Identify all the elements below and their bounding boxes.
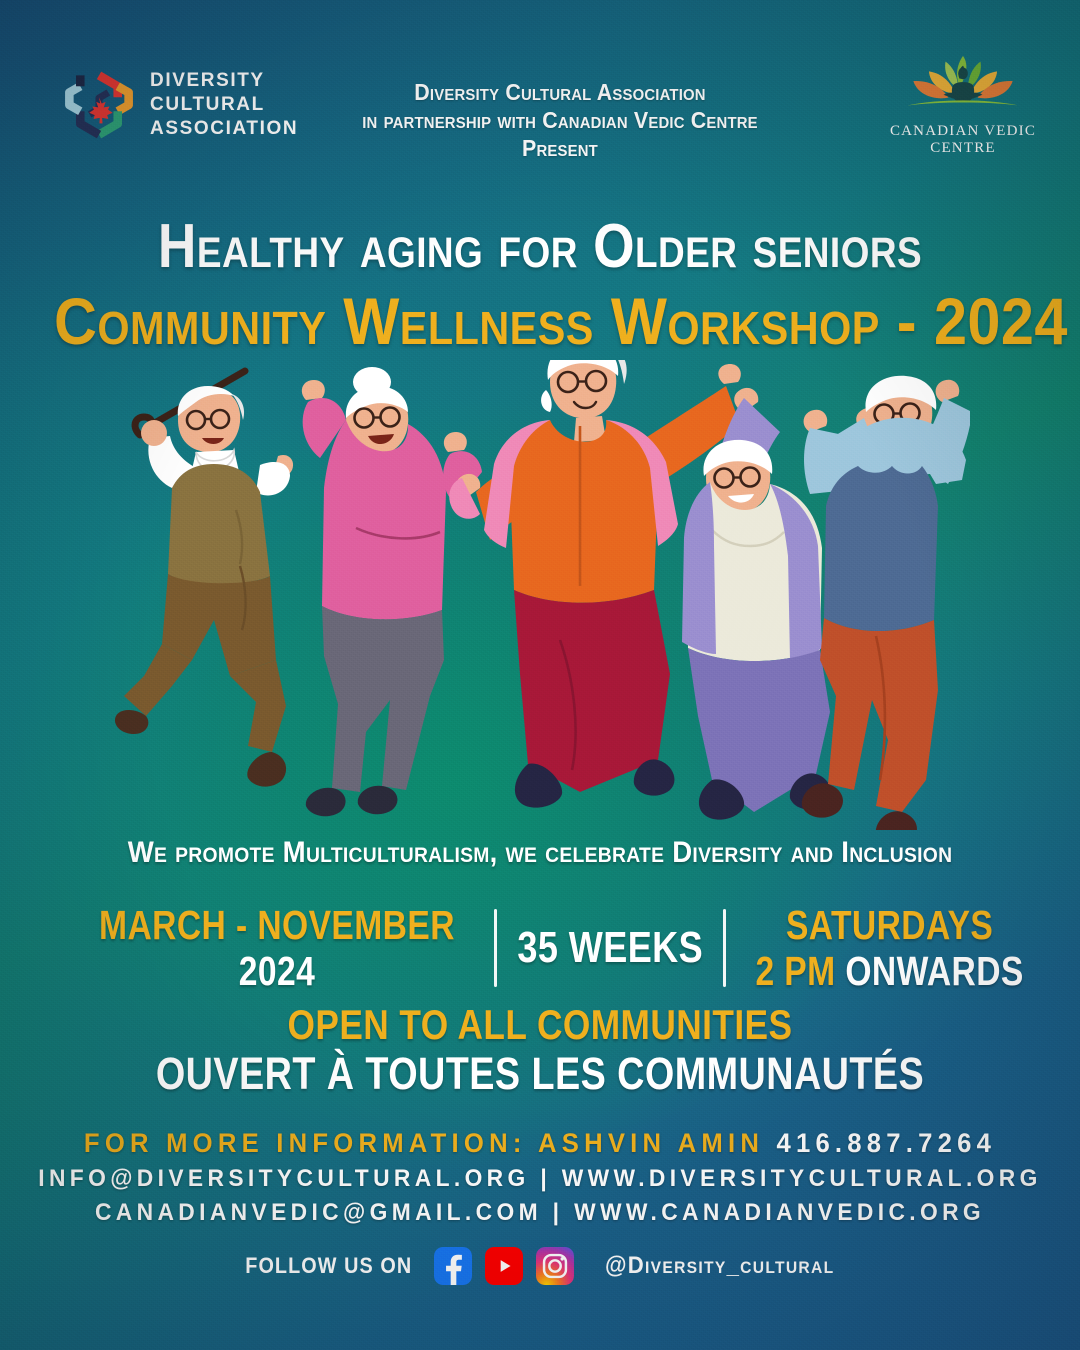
dca-word-line-1: DIVERSITY xyxy=(150,69,298,93)
cvc-word-line-1: CANADIAN VEDIC xyxy=(888,123,1038,140)
open-to-all-english: OPEN TO ALL COMMUNITIES xyxy=(86,1004,993,1047)
presented-by-text: Diversity Cultural Association in partne… xyxy=(318,78,802,162)
dca-word-line-3: ASSOCIATION xyxy=(150,117,298,141)
detail-dates-range: MARCH - NOVEMBER xyxy=(99,905,455,945)
open-to-all-block: OPEN TO ALL COMMUNITIES OUVERT À TOUTES … xyxy=(0,1004,1080,1097)
figure-senior-man-with-cane xyxy=(115,371,293,787)
event-details-row: MARCH - NOVEMBER 2024 35 WEEKS SATURDAYS… xyxy=(60,898,1020,998)
detail-schedule-day: SATURDAYS xyxy=(756,905,1024,945)
contact-block: FOR MORE INFORMATION: ASHVIN AMIN 416.88… xyxy=(0,1124,1080,1230)
contact-info-label: FOR MORE INFORMATION: ASHVIN AMIN xyxy=(84,1128,764,1158)
facebook-icon[interactable] xyxy=(434,1247,472,1285)
follow-us-row: FOLLOW US ON @Diver xyxy=(0,1243,1080,1289)
figure-senior-woman-pink-top xyxy=(302,367,482,816)
present-line-2: in partnership with Canadian Vedic Centr… xyxy=(318,106,802,134)
instagram-icon[interactable] xyxy=(536,1247,574,1285)
dca-word-line-2: CULTURAL xyxy=(150,93,298,117)
dca-logo-wordmark: DIVERSITY CULTURAL ASSOCIATION xyxy=(150,69,298,142)
present-line-1: Diversity Cultural Association xyxy=(318,78,802,106)
poster-title-secondary: Community Wellness Workshop - 2024 xyxy=(54,288,1026,354)
detail-divider-2 xyxy=(723,909,726,987)
diversity-cultural-association-logo: DIVERSITY CULTURAL ASSOCIATION xyxy=(60,62,290,148)
poster-header: DIVERSITY CULTURAL ASSOCIATION Diversity… xyxy=(0,0,1080,180)
lotus-yoga-icon xyxy=(898,50,1028,122)
detail-dates: MARCH - NOVEMBER 2024 xyxy=(60,905,494,991)
cvc-word-line-2: CENTRE xyxy=(888,140,1038,157)
detail-schedule-time-value: 2 PM xyxy=(756,948,836,994)
poster-tagline: We promote Multiculturalism, we celebrat… xyxy=(43,836,1037,870)
social-handle[interactable]: @Diversity_cultural xyxy=(605,1252,834,1280)
detail-schedule: SATURDAYS 2 PM ONWARDS xyxy=(726,905,1053,991)
poster-canvas: DIVERSITY CULTURAL ASSOCIATION Diversity… xyxy=(0,0,1080,1350)
contact-info-line: FOR MORE INFORMATION: ASHVIN AMIN 416.88… xyxy=(27,1124,1053,1162)
follow-us-label: FOLLOW US ON xyxy=(245,1253,412,1279)
seniors-jumping-illustration xyxy=(110,360,970,830)
contact-line-cvc[interactable]: CANADIANVEDIC@GMAIL.COM | WWW.CANADIANVE… xyxy=(27,1196,1053,1230)
detail-divider-1 xyxy=(494,909,497,987)
present-line-3: Present xyxy=(318,134,802,162)
detail-dates-year: 2024 xyxy=(99,951,455,991)
canadian-vedic-centre-logo: CANADIAN VEDIC CENTRE xyxy=(888,50,1038,160)
youtube-icon[interactable] xyxy=(485,1247,523,1285)
contact-line-dca[interactable]: INFO@DIVERSITYCULTURAL.ORG | WWW.DIVERSI… xyxy=(27,1162,1053,1196)
figure-senior-man-blue-vest xyxy=(802,376,970,830)
poster-title-block: Healthy aging for Older seniors Communit… xyxy=(0,216,1080,354)
open-to-all-french: OUVERT À TOUTES LES COMMUNAUTÉS xyxy=(86,1051,993,1097)
detail-duration-weeks: 35 WEEKS xyxy=(517,926,703,969)
dca-hexagon-mark xyxy=(60,65,138,145)
illustration-svg xyxy=(110,360,970,830)
detail-schedule-onwards: ONWARDS xyxy=(846,948,1024,994)
cvc-logo-wordmark: CANADIAN VEDIC CENTRE xyxy=(888,123,1038,157)
detail-schedule-time: 2 PM ONWARDS xyxy=(756,951,1024,991)
poster-title-primary: Healthy aging for Older seniors xyxy=(76,216,1005,278)
detail-duration: 35 WEEKS xyxy=(497,926,724,969)
contact-phone[interactable]: 416.887.7264 xyxy=(776,1128,996,1158)
